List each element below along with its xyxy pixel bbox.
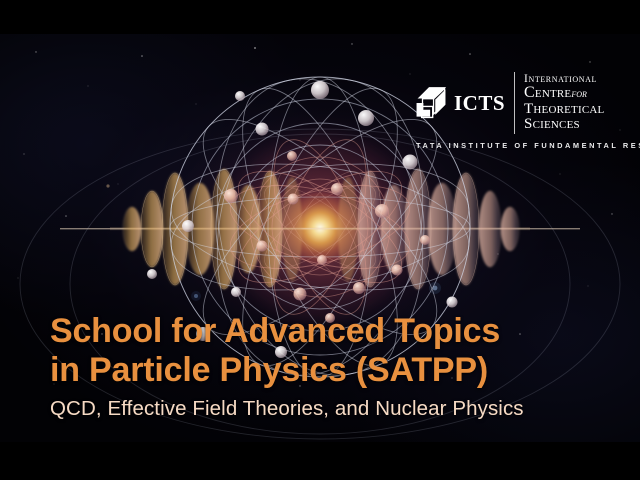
logo-row: ICTS International Centrefor Theoretical…	[414, 72, 604, 134]
logo-line-theoretical: Theoretical	[524, 102, 604, 117]
icts-acronym: ICTS	[454, 93, 505, 114]
logo-line-sciences: Sciences	[524, 117, 604, 132]
logo-divider	[514, 72, 515, 134]
logo-word-for: for	[571, 88, 587, 100]
icts-tagline: TATA INSTITUTE OF FUNDAMENTAL RESEARCH	[416, 141, 640, 150]
icts-cube-logo-icon	[414, 86, 448, 120]
title-block: School for Advanced Topics in Particle P…	[50, 312, 620, 421]
letterbox-bottom	[0, 442, 640, 480]
letterbox-top	[0, 0, 640, 34]
title-card: ICTS International Centrefor Theoretical…	[0, 0, 640, 480]
title-line-2: in Particle Physics (SATPP)	[50, 351, 620, 390]
logo-line-centre-for: Centrefor	[524, 85, 604, 101]
icts-logo: ICTS International Centrefor Theoretical…	[414, 72, 640, 150]
icts-full-name: International Centrefor Theoretical Scie…	[524, 74, 604, 133]
subtitle: QCD, Effective Field Theories, and Nucle…	[50, 396, 620, 421]
logo-word-centre: Centre	[524, 84, 571, 101]
title-line-1: School for Advanced Topics	[50, 312, 620, 351]
